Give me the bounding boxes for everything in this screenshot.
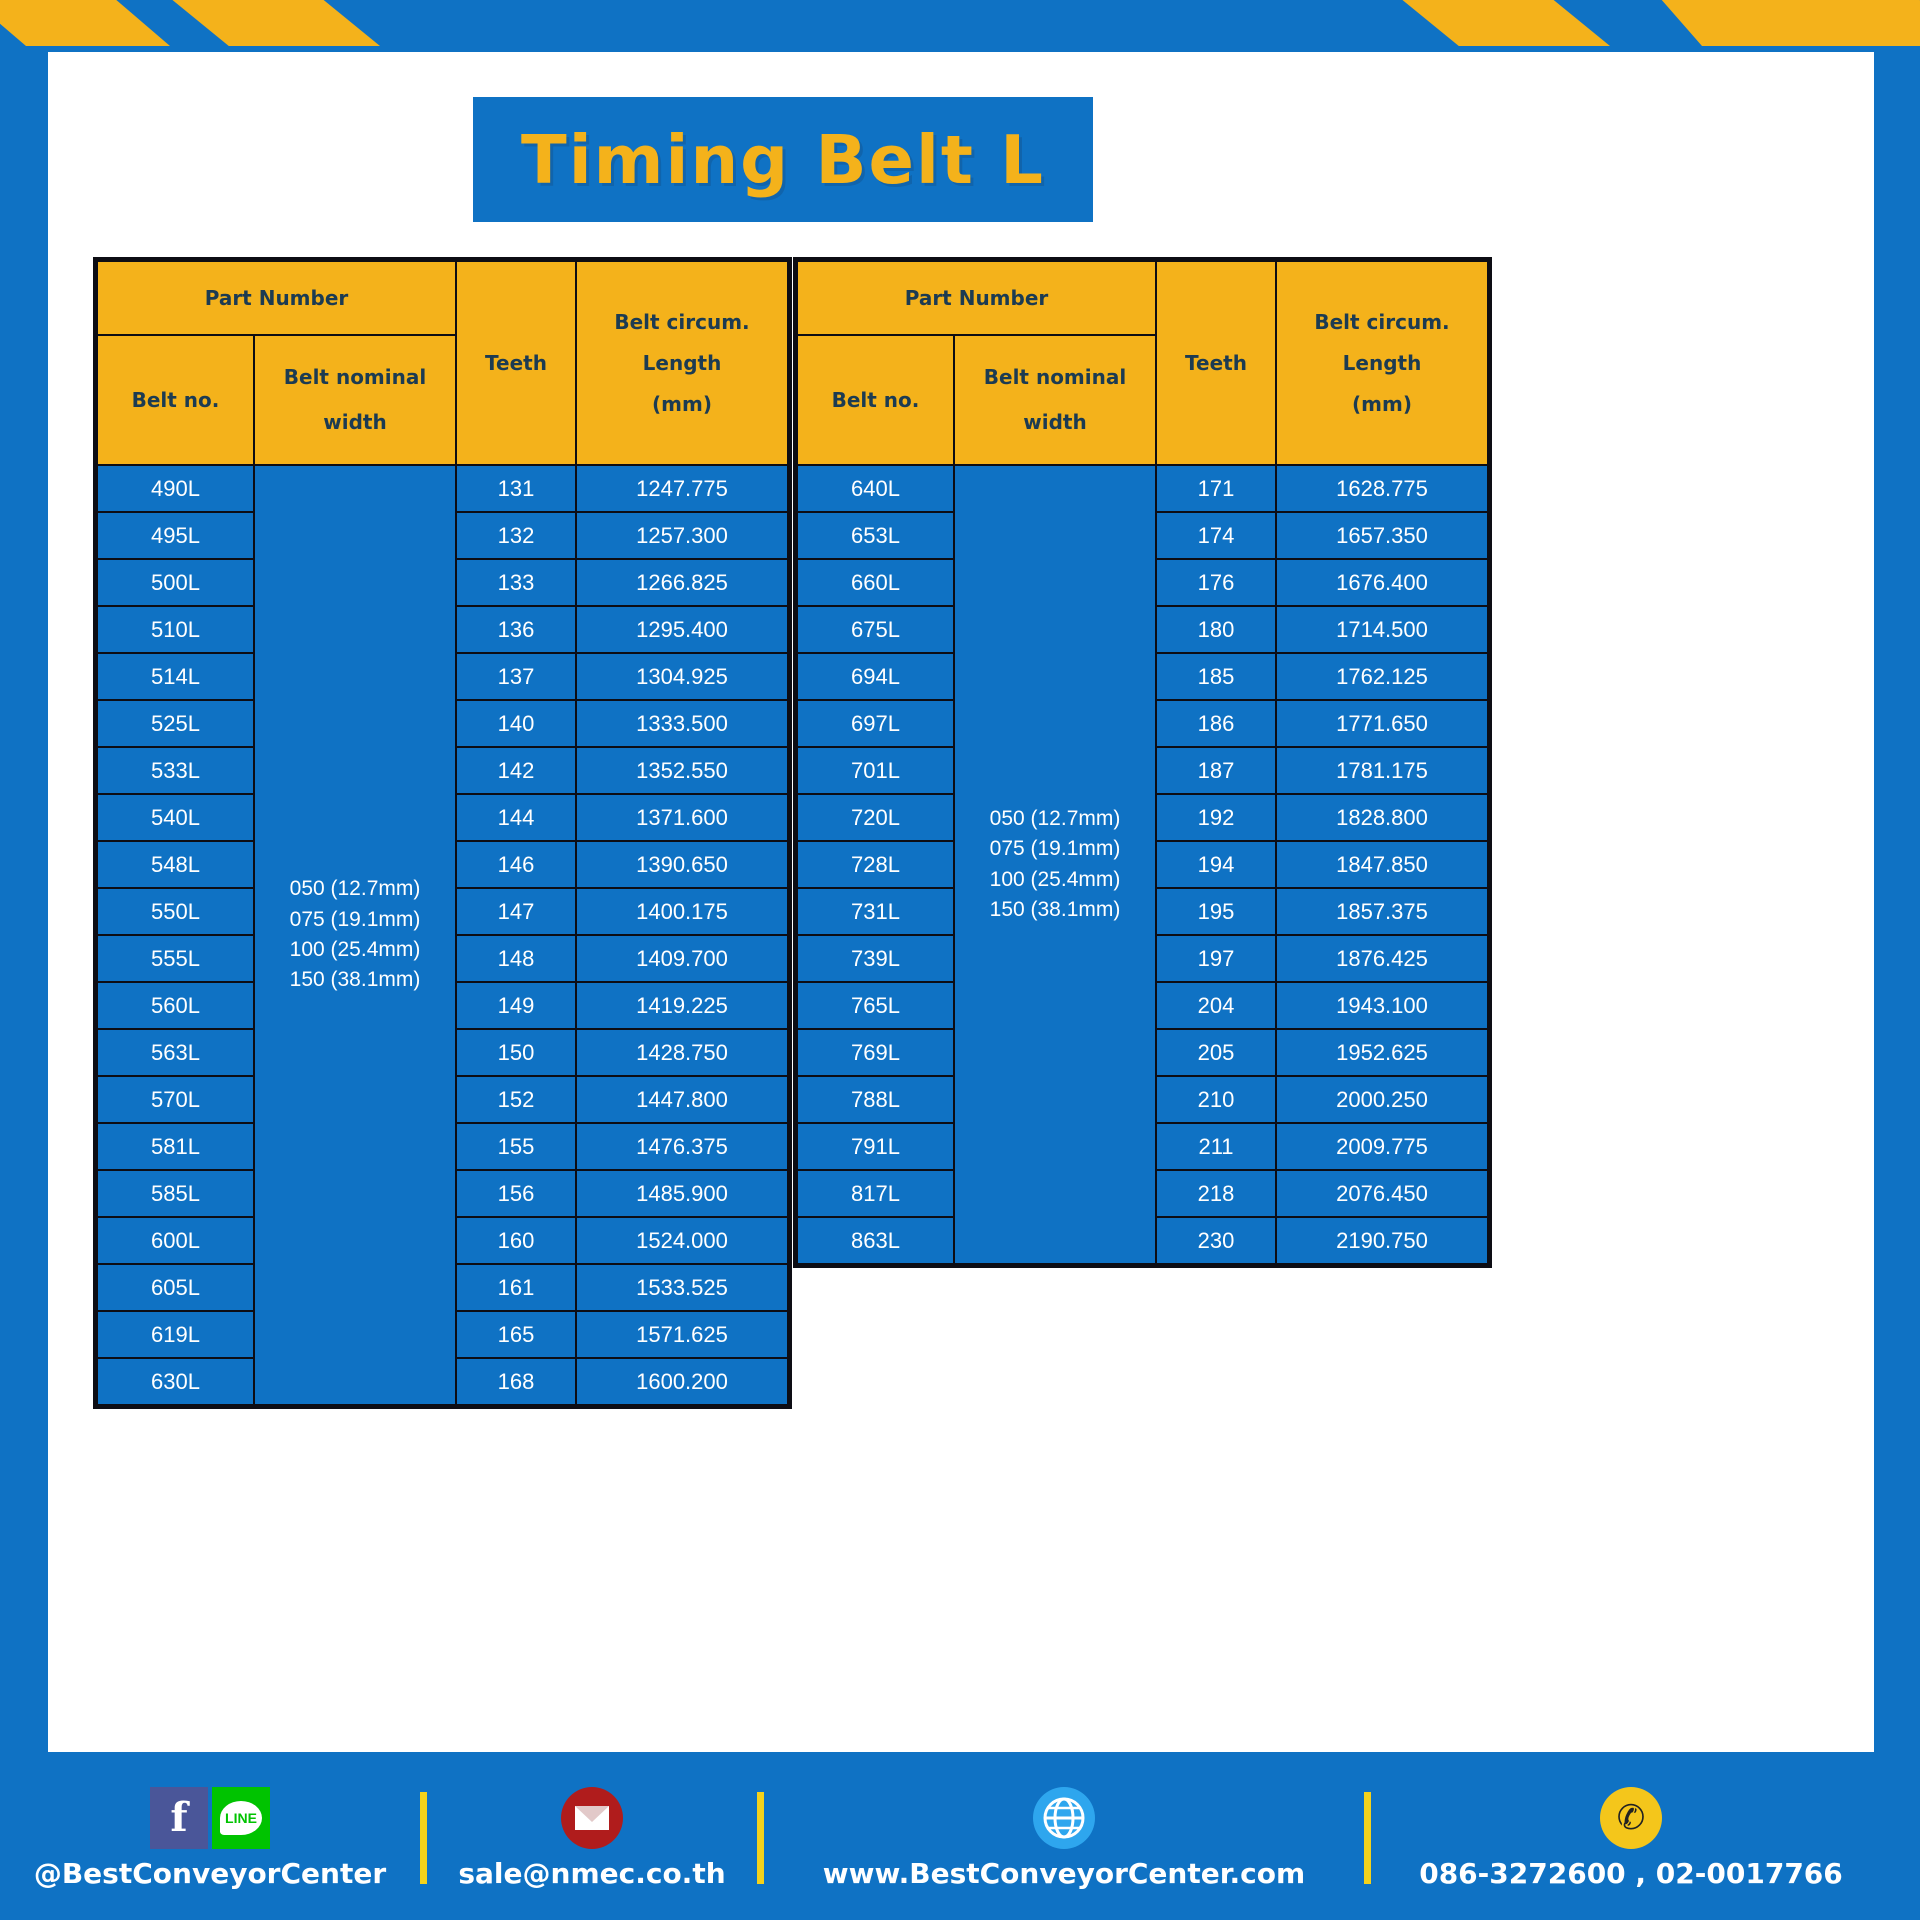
header-circum-line2: Length [577, 349, 787, 378]
header-width-line1: Belt nominal [255, 363, 455, 392]
cell-belt-no: 791L [798, 1124, 953, 1169]
cell-teeth: 152 [457, 1077, 575, 1122]
cell-length-mm: 1943.100 [1277, 983, 1487, 1028]
cell-length-mm: 1295.400 [577, 607, 787, 652]
facebook-icon[interactable]: f [150, 1787, 208, 1849]
social-handle-text: @BestConveyorCenter [34, 1857, 386, 1890]
cell-teeth: 180 [1157, 607, 1275, 652]
cell-length-mm: 1857.375 [1277, 889, 1487, 934]
cell-length-mm: 1676.400 [1277, 560, 1487, 605]
right-table-wrapper: Part Number Teeth Belt circum. Length (m… [793, 257, 1492, 1268]
cell-belt-no: 548L [98, 842, 253, 887]
cell-belt-nominal-width: 050 (12.7mm)075 (19.1mm)100 (25.4mm)150 … [955, 466, 1155, 1263]
header-teeth-right: Teeth [1157, 262, 1275, 464]
cell-belt-no: 490L [98, 466, 253, 511]
belt-table-right: Part Number Teeth Belt circum. Length (m… [793, 257, 1492, 1268]
cell-length-mm: 1571.625 [577, 1312, 787, 1357]
cell-teeth: 186 [1157, 701, 1275, 746]
globe-icon[interactable] [1033, 1787, 1095, 1849]
cell-belt-no: 619L [98, 1312, 253, 1357]
cell-teeth: 148 [457, 936, 575, 981]
cell-length-mm: 1447.800 [577, 1077, 787, 1122]
website-text: www.BestConveyorCenter.com [823, 1857, 1305, 1890]
cell-teeth: 149 [457, 983, 575, 1028]
left-table-body: 490L050 (12.7mm)075 (19.1mm)100 (25.4mm)… [98, 466, 787, 1404]
cell-belt-no: 694L [798, 654, 953, 699]
page-title: Timing Belt L [521, 121, 1045, 199]
width-option-0: 050 (12.7mm) [255, 874, 455, 904]
cell-length-mm: 1419.225 [577, 983, 787, 1028]
width-option-2: 100 (25.4mm) [955, 865, 1155, 895]
cell-teeth: 144 [457, 795, 575, 840]
footer-divider-1 [420, 1792, 427, 1884]
cell-length-mm: 1657.350 [1277, 513, 1487, 558]
cell-teeth: 230 [1157, 1218, 1275, 1263]
cell-length-mm: 1771.650 [1277, 701, 1487, 746]
cell-length-mm: 1600.200 [577, 1359, 787, 1404]
content-panel: Timing Belt L Part Number Teeth Belt cir… [48, 52, 1874, 1752]
cell-belt-nominal-width: 050 (12.7mm)075 (19.1mm)100 (25.4mm)150 … [255, 466, 455, 1404]
width-option-1: 075 (19.1mm) [955, 834, 1155, 864]
cell-belt-no: 765L [798, 983, 953, 1028]
width-option-1: 075 (19.1mm) [255, 905, 455, 935]
social-icon-row: f LINE [150, 1787, 270, 1849]
header-width-line2: width [955, 408, 1155, 437]
cell-length-mm: 1333.500 [577, 701, 787, 746]
chevron-shape-1 [0, 0, 170, 46]
cell-belt-no: 563L [98, 1030, 253, 1075]
cell-teeth: 146 [457, 842, 575, 887]
page-title-box: Timing Belt L [473, 97, 1093, 222]
footer-email[interactable]: sale@nmec.co.th [427, 1787, 757, 1890]
cell-length-mm: 1533.525 [577, 1265, 787, 1310]
cell-length-mm: 1266.825 [577, 560, 787, 605]
header-row-1: Part Number Teeth Belt circum. Length (m… [798, 262, 1487, 334]
cell-teeth: 133 [457, 560, 575, 605]
cell-length-mm: 2190.750 [1277, 1218, 1487, 1263]
footer-website[interactable]: www.BestConveyorCenter.com [764, 1787, 1364, 1890]
cell-length-mm: 1371.600 [577, 795, 787, 840]
cell-belt-no: 495L [98, 513, 253, 558]
footer-social[interactable]: f LINE @BestConveyorCenter [0, 1787, 420, 1890]
cell-belt-no: 605L [98, 1265, 253, 1310]
cell-belt-no: 640L [798, 466, 953, 511]
cell-teeth: 218 [1157, 1171, 1275, 1216]
cell-teeth: 142 [457, 748, 575, 793]
cell-teeth: 204 [1157, 983, 1275, 1028]
email-text: sale@nmec.co.th [458, 1857, 725, 1890]
cell-belt-no: 510L [98, 607, 253, 652]
cell-length-mm: 1257.300 [577, 513, 787, 558]
cell-belt-no: 600L [98, 1218, 253, 1263]
cell-teeth: 197 [1157, 936, 1275, 981]
cell-belt-no: 581L [98, 1124, 253, 1169]
phone-icon[interactable]: ✆ [1600, 1787, 1662, 1849]
top-chevron-decoration [0, 0, 1920, 58]
cell-length-mm: 1428.750 [577, 1030, 787, 1075]
cell-belt-no: 788L [798, 1077, 953, 1122]
cell-length-mm: 1952.625 [1277, 1030, 1487, 1075]
cell-teeth: 150 [457, 1030, 575, 1075]
header-circum-line1: Belt circum. [577, 308, 787, 337]
cell-length-mm: 1847.850 [1277, 842, 1487, 887]
cell-length-mm: 1476.375 [577, 1124, 787, 1169]
cell-length-mm: 1485.900 [577, 1171, 787, 1216]
cell-belt-no: 701L [798, 748, 953, 793]
cell-teeth: 155 [457, 1124, 575, 1169]
line-icon[interactable]: LINE [212, 1787, 270, 1849]
right-table-body: 640L050 (12.7mm)075 (19.1mm)100 (25.4mm)… [798, 466, 1487, 1263]
header-belt-circum-left: Belt circum. Length (mm) [577, 262, 787, 464]
header-belt-no-left: Belt no. [98, 336, 253, 464]
header-belt-circum-right: Belt circum. Length (mm) [1277, 262, 1487, 464]
cell-teeth: 132 [457, 513, 575, 558]
cell-belt-no: 653L [798, 513, 953, 558]
cell-teeth: 140 [457, 701, 575, 746]
cell-length-mm: 1247.775 [577, 466, 787, 511]
cell-length-mm: 2009.775 [1277, 1124, 1487, 1169]
cell-length-mm: 1628.775 [1277, 466, 1487, 511]
cell-belt-no: 630L [98, 1359, 253, 1404]
cell-belt-no: 769L [798, 1030, 953, 1075]
cell-length-mm: 1409.700 [577, 936, 787, 981]
cell-belt-no: 675L [798, 607, 953, 652]
cell-length-mm: 1762.125 [1277, 654, 1487, 699]
cell-teeth: 176 [1157, 560, 1275, 605]
header-belt-nominal-width-right: Belt nominal width [955, 336, 1155, 464]
right-table-head: Part Number Teeth Belt circum. Length (m… [798, 262, 1487, 464]
cell-teeth: 168 [457, 1359, 575, 1404]
cell-teeth: 210 [1157, 1077, 1275, 1122]
cell-teeth: 187 [1157, 748, 1275, 793]
cell-length-mm: 1400.175 [577, 889, 787, 934]
cell-teeth: 160 [457, 1218, 575, 1263]
cell-length-mm: 1524.000 [577, 1218, 787, 1263]
cell-belt-no: 739L [798, 936, 953, 981]
header-part-number-right: Part Number [798, 262, 1155, 334]
cell-belt-no: 731L [798, 889, 953, 934]
cell-belt-no: 585L [98, 1171, 253, 1216]
cell-length-mm: 2000.250 [1277, 1077, 1487, 1122]
header-row-1: Part Number Teeth Belt circum. Length (m… [98, 262, 787, 334]
footer-divider-3 [1364, 1792, 1371, 1884]
width-option-3: 150 (38.1mm) [255, 965, 455, 995]
chevron-shape-2 [170, 0, 380, 46]
cell-belt-no: 540L [98, 795, 253, 840]
footer-contact-bar: f LINE @BestConveyorCenter sale@nmec.co.… [0, 1756, 1920, 1920]
cell-belt-no: 500L [98, 560, 253, 605]
cell-belt-no: 720L [798, 795, 953, 840]
chevron-shape-4 [1660, 0, 1920, 46]
cell-belt-no: 817L [798, 1171, 953, 1216]
width-option-0: 050 (12.7mm) [955, 804, 1155, 834]
cell-teeth: 205 [1157, 1030, 1275, 1075]
cell-belt-no: 550L [98, 889, 253, 934]
cell-belt-no: 560L [98, 983, 253, 1028]
cell-length-mm: 1714.500 [1277, 607, 1487, 652]
footer-phone[interactable]: ✆ 086-3272600 , 02-0017766 [1371, 1787, 1891, 1890]
cell-length-mm: 1304.925 [577, 654, 787, 699]
footer-divider-2 [757, 1792, 764, 1884]
cell-teeth: 161 [457, 1265, 575, 1310]
cell-belt-no: 570L [98, 1077, 253, 1122]
cell-length-mm: 1828.800 [1277, 795, 1487, 840]
table-row: 490L050 (12.7mm)075 (19.1mm)100 (25.4mm)… [98, 466, 787, 511]
line-icon-label: LINE [220, 1801, 262, 1835]
cell-teeth: 147 [457, 889, 575, 934]
header-circum-line3: (mm) [577, 390, 787, 419]
phone-text: 086-3272600 , 02-0017766 [1419, 1857, 1843, 1890]
cell-teeth: 156 [457, 1171, 575, 1216]
cell-length-mm: 1781.175 [1277, 748, 1487, 793]
table-row: 640L050 (12.7mm)075 (19.1mm)100 (25.4mm)… [798, 466, 1487, 511]
cell-belt-no: 728L [798, 842, 953, 887]
header-belt-no-right: Belt no. [798, 336, 953, 464]
cell-belt-no: 525L [98, 701, 253, 746]
chevron-shape-3 [1400, 0, 1610, 46]
cell-belt-no: 533L [98, 748, 253, 793]
cell-length-mm: 1876.425 [1277, 936, 1487, 981]
cell-teeth: 171 [1157, 466, 1275, 511]
cell-belt-no: 514L [98, 654, 253, 699]
globe-icon-glyph [1043, 1797, 1085, 1839]
cell-length-mm: 1390.650 [577, 842, 787, 887]
left-table-wrapper: Part Number Teeth Belt circum. Length (m… [93, 257, 792, 1409]
header-circum-line1: Belt circum. [1277, 308, 1487, 337]
cell-teeth: 137 [457, 654, 575, 699]
cell-teeth: 194 [1157, 842, 1275, 887]
cell-teeth: 174 [1157, 513, 1275, 558]
cell-teeth: 131 [457, 466, 575, 511]
cell-teeth: 192 [1157, 795, 1275, 840]
cell-belt-no: 660L [798, 560, 953, 605]
cell-teeth: 195 [1157, 889, 1275, 934]
cell-teeth: 165 [457, 1312, 575, 1357]
belt-table-left: Part Number Teeth Belt circum. Length (m… [93, 257, 792, 1409]
cell-length-mm: 1352.550 [577, 748, 787, 793]
header-teeth-left: Teeth [457, 262, 575, 464]
cell-belt-no: 697L [798, 701, 953, 746]
cell-teeth: 185 [1157, 654, 1275, 699]
header-circum-line2: Length [1277, 349, 1487, 378]
width-option-3: 150 (38.1mm) [955, 895, 1155, 925]
cell-teeth: 136 [457, 607, 575, 652]
cell-teeth: 211 [1157, 1124, 1275, 1169]
email-icon[interactable] [561, 1787, 623, 1849]
left-table-head: Part Number Teeth Belt circum. Length (m… [98, 262, 787, 464]
width-option-2: 100 (25.4mm) [255, 935, 455, 965]
header-circum-line3: (mm) [1277, 390, 1487, 419]
cell-belt-no: 863L [798, 1218, 953, 1263]
header-belt-nominal-width-left: Belt nominal width [255, 336, 455, 464]
cell-length-mm: 2076.450 [1277, 1171, 1487, 1216]
header-width-line2: width [255, 408, 455, 437]
cell-belt-no: 555L [98, 936, 253, 981]
header-part-number-left: Part Number [98, 262, 455, 334]
header-width-line1: Belt nominal [955, 363, 1155, 392]
page-root: Timing Belt L Part Number Teeth Belt cir… [0, 0, 1920, 1920]
